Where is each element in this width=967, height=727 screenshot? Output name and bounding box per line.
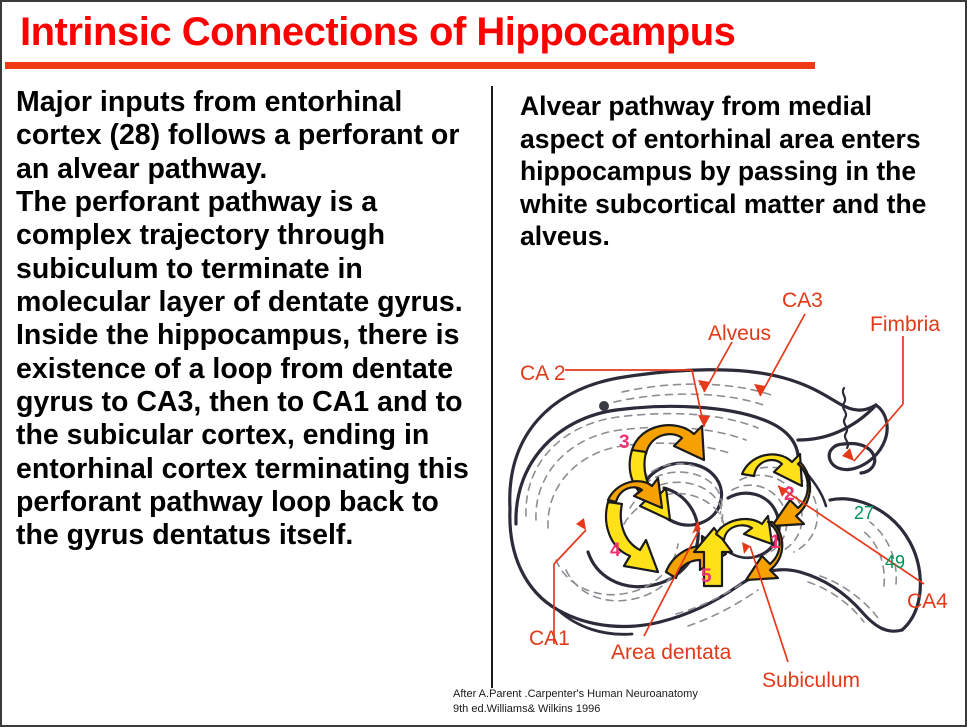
title-area: Intrinsic Connections of Hippocampus bbox=[2, 2, 967, 72]
figure-number-27: 27 bbox=[854, 503, 874, 524]
figure-label-fimbria: Fimbria bbox=[870, 313, 940, 337]
left-text-column: Major inputs from entorhinal cortex (28)… bbox=[16, 86, 484, 553]
figure-number-2: 2 bbox=[784, 484, 795, 506]
figure-number-5: 5 bbox=[701, 566, 712, 588]
right-paragraph-1: Alvear pathway from medial aspect of ent… bbox=[520, 90, 960, 253]
arrowhead-fimbria bbox=[842, 448, 854, 461]
figure-number-49: 49 bbox=[885, 552, 905, 573]
hippocampus-diagram: CA 2 Alveus CA3 Fimbria CA4 CA1 Area den… bbox=[492, 284, 967, 704]
leader-ca1 bbox=[554, 530, 586, 564]
figure-label-alveus: Alveus bbox=[708, 322, 771, 346]
slide-canvas: Intrinsic Connections of Hippocampus Maj… bbox=[0, 0, 967, 727]
figure-number-1: 1 bbox=[770, 532, 781, 554]
page-title: Intrinsic Connections of Hippocampus bbox=[20, 10, 735, 55]
source-citation: After A.Parent .Carpenter's Human Neuroa… bbox=[453, 687, 698, 717]
arrowhead-ca2 bbox=[698, 415, 710, 427]
title-underline-rule bbox=[5, 62, 815, 69]
figure-label-ca3: CA3 bbox=[782, 289, 823, 313]
right-text-column: Alvear pathway from medial aspect of ent… bbox=[520, 90, 960, 253]
left-paragraph-1: Major inputs from entorhinal cortex (28)… bbox=[16, 86, 484, 186]
figure-label-ca4: CA4 bbox=[907, 590, 948, 614]
figure-label-area-dentata: Area dentata bbox=[611, 641, 731, 665]
arrow-1-head bbox=[716, 516, 772, 544]
figure-label-subiculum: Subiculum bbox=[762, 669, 860, 693]
arrowhead-ca1 bbox=[576, 518, 586, 530]
left-paragraph-2: The perforant pathway is a complex traje… bbox=[16, 186, 484, 553]
arrow-2-head bbox=[742, 454, 802, 486]
figure-label-ca2: CA 2 bbox=[520, 362, 566, 386]
leader-lines bbox=[554, 314, 924, 662]
figure-label-ca1: CA1 bbox=[529, 627, 570, 651]
figure-number-3: 3 bbox=[619, 432, 630, 454]
marker-dot bbox=[599, 401, 609, 411]
arrowhead-subiculum bbox=[742, 542, 750, 554]
figure-number-4: 4 bbox=[610, 540, 621, 562]
